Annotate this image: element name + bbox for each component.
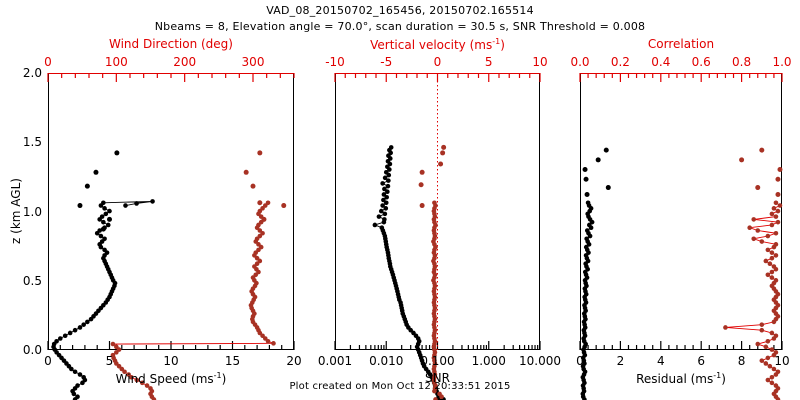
top-axis-tick-label: 0.2 xyxy=(611,55,630,69)
y-axis-tick-label: 1.5 xyxy=(6,135,42,149)
bottom-axis-tick-label: 4 xyxy=(657,354,665,368)
bottom-axis-tick-label: 15 xyxy=(225,354,240,368)
bottom-axis-tick-label: 0.001 xyxy=(318,354,352,368)
top-axis-title: Correlation xyxy=(580,37,782,51)
bottom-axis-tick-label: 1.000 xyxy=(472,354,506,368)
bottom-axis-tick-label: 2 xyxy=(617,354,625,368)
top-axis-tick-label: 0.0 xyxy=(570,55,589,69)
top-axis-tick-label: 0.8 xyxy=(732,55,751,69)
y-axis-tick-label: 1.0 xyxy=(6,205,42,219)
bottom-axis-tick-label: 0 xyxy=(44,354,52,368)
panel-plot-area xyxy=(48,73,294,350)
bottom-axis-tick-label: 20 xyxy=(286,354,301,368)
top-axis-tick-label: -10 xyxy=(325,55,345,69)
data-series-wind-direction xyxy=(111,150,287,400)
panel-plot-area xyxy=(580,73,782,350)
panel-wind xyxy=(48,73,294,350)
y-axis-tick-label: 0.0 xyxy=(6,343,42,357)
y-axis-tick-label: 0.5 xyxy=(6,274,42,288)
top-axis-tick-label: 100 xyxy=(105,55,128,69)
top-axis-tick-label: 5 xyxy=(485,55,493,69)
top-axis-tick-label: 1.0 xyxy=(772,55,791,69)
bottom-axis-tick-label: 0.010 xyxy=(369,354,403,368)
top-axis-tick-label: 0 xyxy=(434,55,442,69)
top-axis-title: Wind Direction (deg) xyxy=(48,37,294,51)
top-axis-tick-label: 0.6 xyxy=(692,55,711,69)
top-axis-tick-label: 0 xyxy=(44,55,52,69)
top-axis-tick-label: -5 xyxy=(380,55,392,69)
top-axis-tick-label: 10 xyxy=(532,55,547,69)
data-series-residual xyxy=(580,148,611,400)
panel-snr xyxy=(335,73,540,350)
top-axis-tick-label: 200 xyxy=(173,55,196,69)
panel-plot-area xyxy=(335,73,540,350)
footer-timestamp: Plot created on Mon Oct 12 20:33:51 2015 xyxy=(0,381,800,392)
top-axis-tick-label: 0.4 xyxy=(651,55,670,69)
bottom-axis-tick-label: 0 xyxy=(576,354,584,368)
data-series-wind-speed xyxy=(51,150,155,400)
top-axis-tick-label: 300 xyxy=(242,55,265,69)
bottom-axis-tick-label: 5 xyxy=(106,354,114,368)
bottom-axis-tick-label: 10 xyxy=(163,354,178,368)
top-axis-title: Vertical velocity (ms-1) xyxy=(335,37,540,52)
bottom-axis-tick-label: 0.100 xyxy=(420,354,454,368)
bottom-axis-tick-label: 6 xyxy=(697,354,705,368)
bottom-axis-tick-label: 10.000 xyxy=(519,354,561,368)
bottom-axis-tick-label: 10 xyxy=(774,354,789,368)
plot-subtitle: Nbeams = 8, Elevation angle = 70.0°, sca… xyxy=(0,20,800,33)
plot-title: VAD_08_20150702_165456, 20150702.165514 xyxy=(0,4,800,17)
bottom-axis-tick-label: 8 xyxy=(738,354,746,368)
y-axis-tick-label: 2.0 xyxy=(6,66,42,80)
panel-correlation xyxy=(580,73,782,350)
